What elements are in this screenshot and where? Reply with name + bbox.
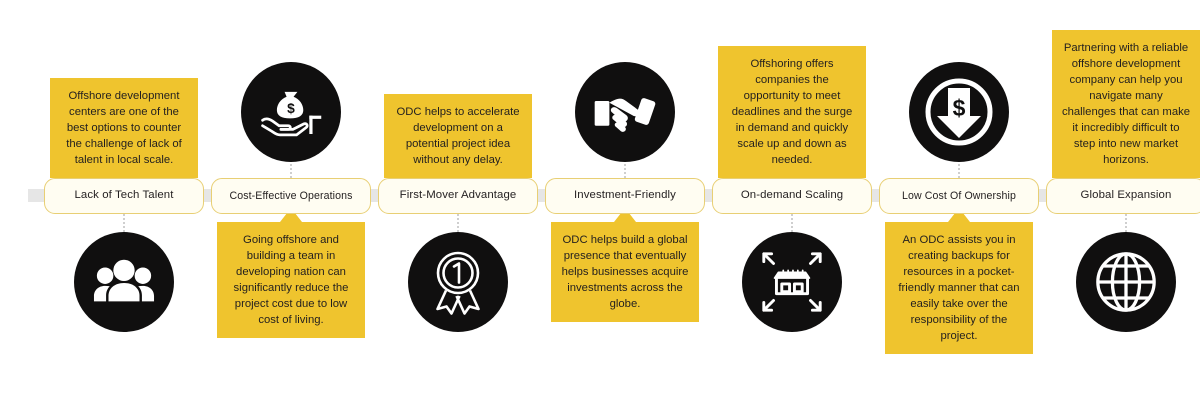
svg-text:$: $ [953,95,966,121]
benefit-column-on-demand-scaling: On-demand ScalingOffshoring offers compa… [712,0,872,400]
benefit-card-text: Offshoring offers companies the opportun… [727,56,857,168]
benefit-card-text: An ODC assists you in creating backups f… [894,232,1024,344]
benefit-card-cost-effective-operations: Going offshore and building a team in de… [217,222,365,338]
connector-stem-up [624,160,628,178]
connector-stem-down [123,214,127,232]
benefit-column-first-mover-advantage: First-Mover AdvantageODC helps to accele… [378,0,538,400]
globe-icon [1076,232,1176,332]
benefit-column-cost-effective-operations: Cost-Effective OperationsGoing offshore … [211,0,371,400]
hand-holding-money-bag-icon: $ [241,62,341,162]
benefit-pill-low-cost-of-ownership[interactable]: Low Cost Of Ownership [879,178,1039,214]
connector-stem-down [791,214,795,232]
first-place-medal-icon [408,232,508,332]
benefit-pill-label: Cost-Effective Operations [229,191,352,202]
benefit-card-text: Going offshore and building a team in de… [226,232,356,328]
benefit-pill-label: Lack of Tech Talent [75,190,174,201]
dollar-down-arrow-icon: $ [909,62,1009,162]
benefit-pill-first-mover-advantage[interactable]: First-Mover Advantage [378,178,538,214]
benefit-column-low-cost-of-ownership: Low Cost Of OwnershipAn ODC assists you … [879,0,1039,400]
connector-stem-down [457,214,461,232]
benefit-pill-label: Global Expansion [1081,190,1172,201]
benefit-pill-cost-effective-operations[interactable]: Cost-Effective Operations [211,178,371,214]
benefit-column-investment-friendly: Investment-FriendlyODC helps build a glo… [545,0,705,400]
benefit-card-text: ODC helps to accelerate development on a… [393,104,523,168]
benefit-pill-label: On-demand Scaling [741,190,843,201]
benefit-pill-investment-friendly[interactable]: Investment-Friendly [545,178,705,214]
svg-text:$: $ [287,101,295,116]
benefit-pill-on-demand-scaling[interactable]: On-demand Scaling [712,178,872,214]
benefit-pill-lack-of-tech-talent[interactable]: Lack of Tech Talent [44,178,204,214]
benefit-card-lack-of-tech-talent: Offshore development centers are one of … [50,78,198,178]
connector-stem-up [290,160,294,178]
benefit-card-global-expansion: Partnering with a reliable offshore deve… [1052,30,1200,178]
benefit-card-investment-friendly: ODC helps build a global presence that e… [551,222,699,322]
benefit-pill-label: Low Cost Of Ownership [902,191,1016,202]
benefit-card-low-cost-of-ownership: An ODC assists you in creating backups f… [885,222,1033,354]
connector-stem-up [958,160,962,178]
benefit-column-global-expansion: Global ExpansionPartnering with a reliab… [1046,0,1200,400]
group-of-people-icon [74,232,174,332]
benefit-card-first-mover-advantage: ODC helps to accelerate development on a… [384,94,532,178]
benefit-pill-label: Investment-Friendly [574,190,676,201]
benefit-pill-label: First-Mover Advantage [400,190,517,201]
benefit-pill-global-expansion[interactable]: Global Expansion [1046,178,1200,214]
benefit-card-text: ODC helps build a global presence that e… [560,232,690,312]
storefront-scaling-arrows-icon [742,232,842,332]
benefit-card-on-demand-scaling: Offshoring offers companies the opportun… [718,46,866,178]
benefit-card-text: Partnering with a reliable offshore deve… [1061,40,1191,168]
benefit-column-lack-of-tech-talent: Lack of Tech TalentOffshore development … [44,0,204,400]
infographic-root: Lack of Tech TalentOffshore development … [0,0,1200,400]
connector-stem-down [1125,214,1129,232]
benefit-card-text: Offshore development centers are one of … [59,88,189,168]
handshake-icon [575,62,675,162]
